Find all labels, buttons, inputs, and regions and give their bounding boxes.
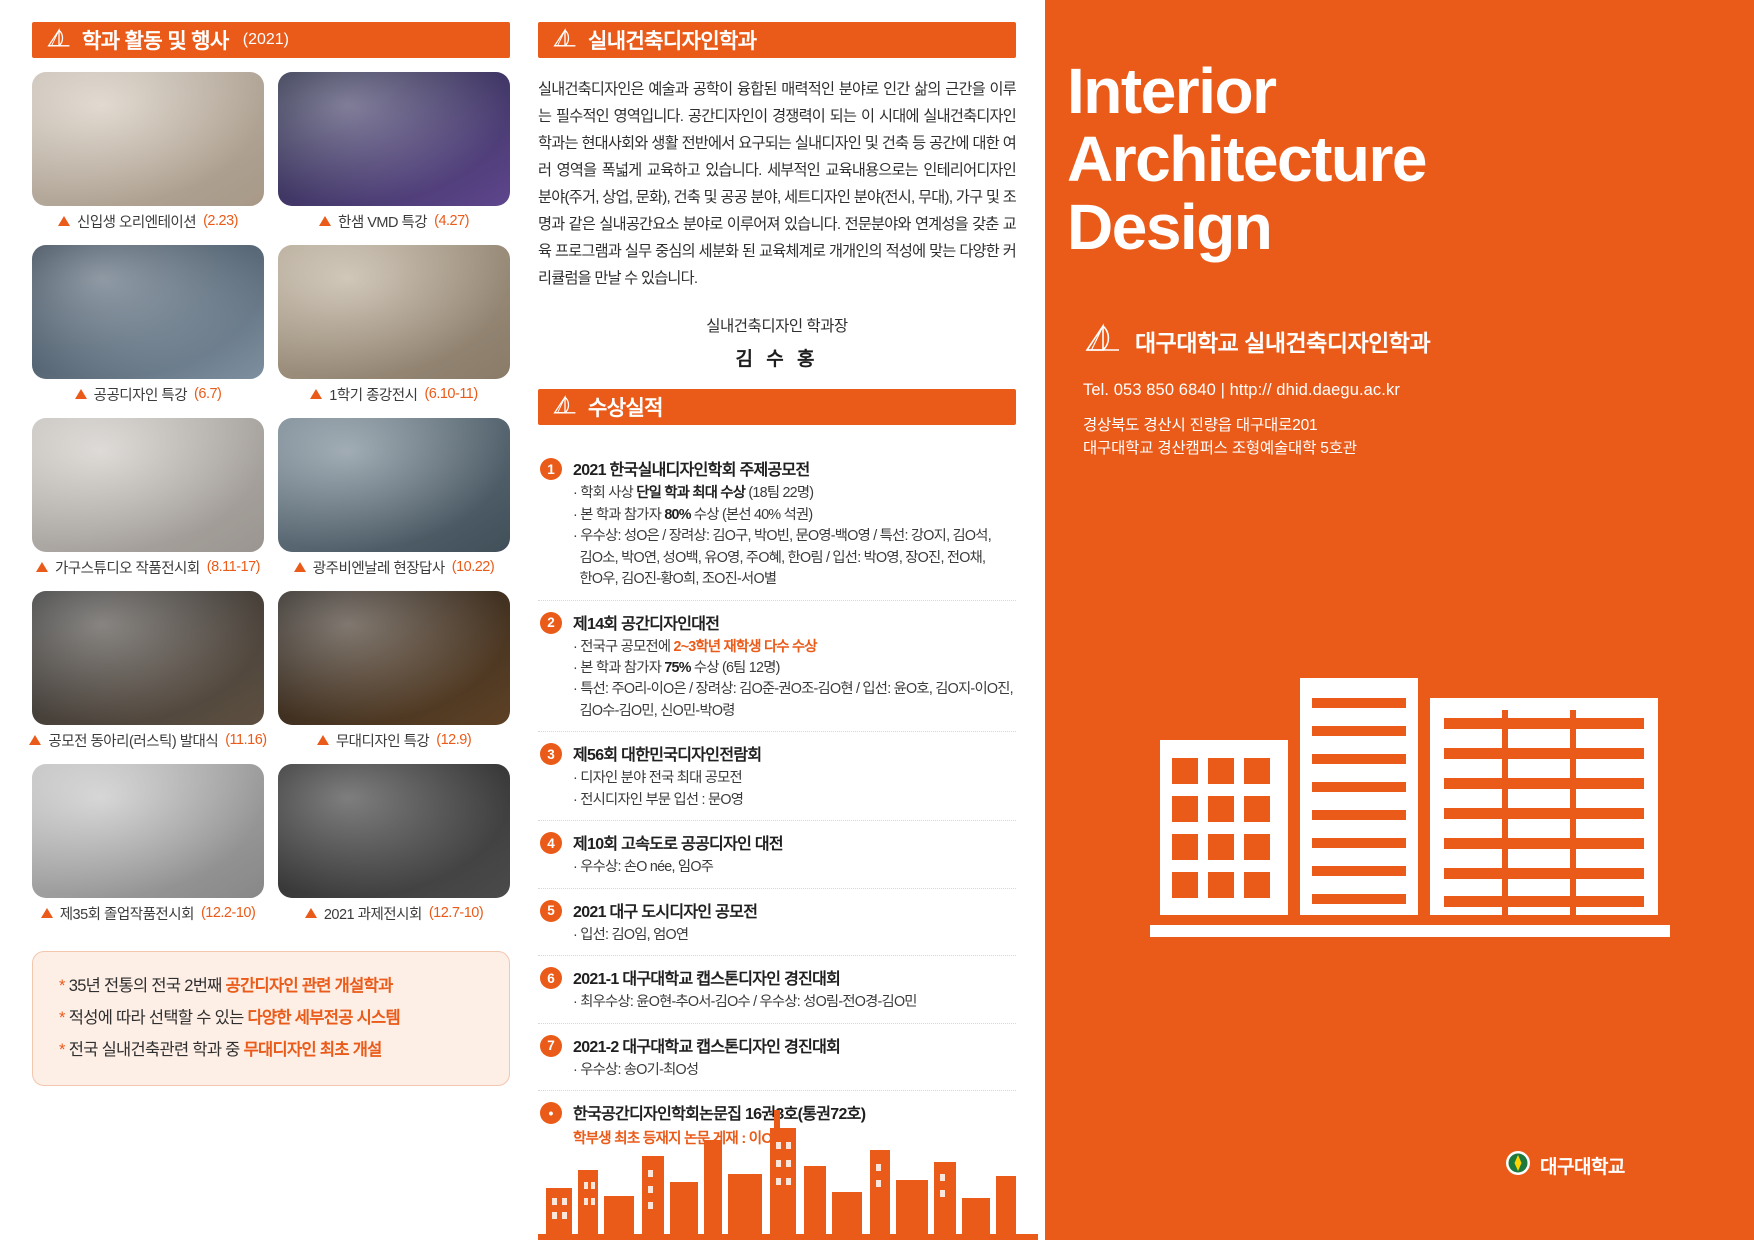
triangle-bullet-icon xyxy=(305,908,317,918)
dgu-logo-icon xyxy=(552,27,578,54)
freshman-orientation-photo xyxy=(32,72,264,206)
activities-section-header: 학과 활동 및 행사 (2021) xyxy=(32,22,510,58)
35th-graduation-exhibition-photo xyxy=(32,764,264,898)
note-highlight: 공간디자인 관련 개설학과 xyxy=(226,977,393,995)
award-body: 2021 대구 도시디자인 공모전· 입선: 김O임, 엄O연 xyxy=(573,898,1016,946)
activity-photo-item: 공공디자인 특강(6.7) xyxy=(32,245,264,409)
building-illustration xyxy=(1150,640,1670,975)
activity-photo-caption: 한샘 VMD 특강(4.27) xyxy=(278,206,510,236)
activity-photo-date: (12.7-10) xyxy=(429,905,483,921)
activity-photo-caption-text: 한샘 VMD 특강 xyxy=(338,211,427,232)
award-title: 2021 대구 도시디자인 공모전 xyxy=(573,898,1016,922)
brand-title-line-2: Architecture xyxy=(1067,126,1687,194)
award-detail-line: · 본 학과 참가자 75% 수상 (6팀 12명) xyxy=(573,658,1016,679)
award-item: 52021 대구 도시디자인 공모전· 입선: 김O임, 엄O연 xyxy=(538,889,1016,956)
activities-section-title: 학과 활동 및 행사 xyxy=(82,25,229,55)
brand-address-line-2: 대구대학교 경산캠퍼스 조형예술대학 5호관 xyxy=(1083,437,1683,460)
asterisk-icon: * xyxy=(59,977,65,995)
activity-photo-caption-text: 공공디자인 특강 xyxy=(94,384,187,405)
brochure-page: Interior Architecture Design 대구대학교 실내건축디… xyxy=(0,0,1754,1240)
dean-role: 실내건축디자인 학과장 xyxy=(538,314,1016,336)
triangle-bullet-icon xyxy=(294,562,306,572)
award-title: 제56회 대한민국디자인전람회 xyxy=(573,741,1016,765)
triangle-bullet-icon xyxy=(75,389,87,399)
activity-photo-date: (2.23) xyxy=(203,213,238,229)
awards-section-header: 수상실적 xyxy=(538,389,1016,425)
dgu-logo-icon xyxy=(46,27,72,54)
brand-tel[interactable]: Tel. 053 850 6840 | http:// dhid.daegu.a… xyxy=(1083,381,1683,400)
activity-photo-date: (12.2-10) xyxy=(201,905,255,921)
activity-photo-item: 무대디자인 특강(12.9) xyxy=(278,591,510,755)
award-body: 2021-1 대구대학교 캡스톤디자인 경진대회· 최우수상: 윤O현-추O서-… xyxy=(573,965,1016,1013)
brand-title-line-1: Interior xyxy=(1067,58,1687,126)
activity-photo-date: (8.11-17) xyxy=(207,559,260,575)
2021-assignment-exhibition-photo xyxy=(278,764,510,898)
department-section-title: 실내건축디자인학과 xyxy=(588,25,756,55)
triangle-bullet-icon xyxy=(319,216,331,226)
brand-dept-name: 대구대학교 실내건축디자인학과 xyxy=(1135,324,1430,358)
award-detail-line: 김O수-김O민, 신O민-박O령 xyxy=(573,701,1016,722)
activity-photo-caption: 광주비엔날레 현장답사(10.22) xyxy=(278,552,510,582)
activity-photo-caption: 공공디자인 특강(6.7) xyxy=(32,379,264,409)
semester-end-exhibition-photo xyxy=(278,245,510,379)
note-text: 35년 전통의 전국 2번째 xyxy=(69,977,226,995)
award-detail-line: · 학회 사상 단일 학과 최대 수상 (18팀 22명) xyxy=(573,483,1016,504)
award-number-badge: 3 xyxy=(540,743,562,765)
awards-section-title: 수상실적 xyxy=(588,392,663,422)
highlight-notes-box: *35년 전통의 전국 2번째 공간디자인 관련 개설학과*적성에 따라 선택할… xyxy=(32,951,510,1086)
activity-photo-caption: 제35회 졸업작품전시회(12.2-10) xyxy=(32,898,264,928)
highlight-note-line: *적성에 따라 선택할 수 있는 다양한 세부전공 시스템 xyxy=(59,1002,487,1034)
activity-photo-caption: 공모전 동아리(러스틱) 발대식(11.16) xyxy=(32,725,264,755)
department-intro-text: 실내건축디자인은 예술과 공학이 융합된 매력적인 분야로 인간 삶의 근간을 … xyxy=(538,76,1016,292)
activity-photo-item: 제35회 졸업작품전시회(12.2-10) xyxy=(32,764,264,928)
activity-photo-item: 2021 과제전시회(12.7-10) xyxy=(278,764,510,928)
award-number-badge: 1 xyxy=(540,458,562,480)
activity-photo-caption-text: 공모전 동아리(러스틱) 발대식 xyxy=(48,730,218,751)
activity-photo-caption-text: 신입생 오리엔테이션 xyxy=(77,211,196,232)
activity-photo-caption: 신입생 오리엔테이션(2.23) xyxy=(32,206,264,236)
award-detail-line: · 특선: 주O리-이O은 / 장려상: 김O준-권O조-김O현 / 입선: 윤… xyxy=(573,679,1016,700)
activity-photo-date: (4.27) xyxy=(434,213,469,229)
award-title: 제10회 고속도로 공공디자인 대전 xyxy=(573,830,1016,854)
hanssem-vmd-lecture-photo xyxy=(278,72,510,206)
activity-photo-date: (11.16) xyxy=(225,732,266,748)
activity-photo-caption-text: 제35회 졸업작품전시회 xyxy=(60,903,194,924)
award-number-badge: 5 xyxy=(540,900,562,922)
activity-photo-item: 광주비엔날레 현장답사(10.22) xyxy=(278,418,510,582)
award-detail-line: · 전시디자인 부문 입선 : 문O영 xyxy=(573,790,1016,811)
activity-photo-item: 한샘 VMD 특강(4.27) xyxy=(278,72,510,236)
award-detail-line: · 전국구 공모전에 2~3학년 재학생 다수 수상 xyxy=(573,637,1016,658)
award-title: 2021-2 대구대학교 캡스톤디자인 경진대회 xyxy=(573,1033,1016,1057)
award-detail-line: · 디자인 분야 전국 최대 공모전 xyxy=(573,768,1016,789)
award-detail-line: · 우수상: 성O은 / 장려상: 김O구, 박O빈, 문O영-백O영 / 특선… xyxy=(573,526,1016,547)
activity-photo-caption-text: 광주비엔날레 현장답사 xyxy=(313,557,445,578)
awards-list: 12021 한국실내디자인학회 주제공모전· 학회 사상 단일 학과 최대 수상… xyxy=(538,447,1016,1157)
award-detail-line: · 본 학과 참가자 80% 수상 (본선 40% 석권) xyxy=(573,505,1016,526)
award-number-badge: 7 xyxy=(540,1035,562,1057)
activity-photo-grid: 신입생 오리엔테이션(2.23)한샘 VMD 특강(4.27)공공디자인 특강(… xyxy=(32,72,510,937)
award-item: 62021-1 대구대학교 캡스톤디자인 경진대회· 최우수상: 윤O현-추O서… xyxy=(538,956,1016,1023)
city-skyline-illustration xyxy=(538,1070,1038,1240)
activity-photo-caption: 무대디자인 특강(12.9) xyxy=(278,725,510,755)
award-number-badge: 6 xyxy=(540,967,562,989)
dgu-logo-icon xyxy=(1083,322,1123,359)
university-footer-text: 대구대학교 xyxy=(1540,1152,1625,1179)
asterisk-icon: * xyxy=(59,1041,65,1059)
award-detail-line: · 최우수상: 윤O현-추O서-김O수 / 우수상: 성O림-전O경-김O민 xyxy=(573,992,1016,1013)
award-title: 제14회 공간디자인대전 xyxy=(573,610,1016,634)
triangle-bullet-icon xyxy=(41,908,53,918)
award-detail-line: 한O우, 김O진-황O희, 조O진-서O별 xyxy=(573,569,1016,590)
highlight-note-line: *전국 실내건축관련 학과 중 무대디자인 최초 개설 xyxy=(59,1034,487,1066)
award-title: 2021-1 대구대학교 캡스톤디자인 경진대회 xyxy=(573,965,1016,989)
activity-photo-caption-text: 2021 과제전시회 xyxy=(324,903,422,924)
daegu-university-emblem-icon xyxy=(1505,1150,1531,1181)
award-detail-line: · 입선: 김O임, 엄O연 xyxy=(573,925,1016,946)
triangle-bullet-icon xyxy=(36,562,48,572)
stage-design-lecture-photo xyxy=(278,591,510,725)
triangle-bullet-icon xyxy=(317,735,329,745)
university-footer: 대구대학교 xyxy=(1505,1150,1625,1181)
brand-title-line-3: Design xyxy=(1067,194,1687,262)
activity-photo-item: 가구스튜디오 작품전시회(8.11-17) xyxy=(32,418,264,582)
award-item: 3제56회 대한민국디자인전람회· 디자인 분야 전국 최대 공모전· 전시디자… xyxy=(538,732,1016,821)
note-highlight: 다양한 세부전공 시스템 xyxy=(247,1009,400,1027)
activity-photo-date: (12.9) xyxy=(436,732,471,748)
note-highlight: 무대디자인 최초 개설 xyxy=(244,1041,382,1059)
award-body: 제14회 공간디자인대전· 전국구 공모전에 2~3학년 재학생 다수 수상· … xyxy=(573,610,1016,723)
award-number-badge: 2 xyxy=(540,612,562,634)
activity-photo-caption: 2021 과제전시회(12.7-10) xyxy=(278,898,510,928)
brand-title: Interior Architecture Design xyxy=(1067,58,1687,261)
triangle-bullet-icon xyxy=(29,735,41,745)
asterisk-icon: * xyxy=(59,1009,65,1027)
award-body: 제56회 대한민국디자인전람회· 디자인 분야 전국 최대 공모전· 전시디자인… xyxy=(573,741,1016,811)
award-detail-line: 김O소, 박O연, 성O백, 유O영, 주O혜, 한O림 / 입선: 박O영, … xyxy=(573,548,1016,569)
note-text: 적성에 따라 선택할 수 있는 xyxy=(69,1009,248,1027)
activity-photo-caption-text: 1학기 종강전시 xyxy=(329,384,417,405)
brand-address-line-1: 경상북도 경산시 진량읍 대구대로201 xyxy=(1083,414,1683,437)
competition-club-launch-photo xyxy=(32,591,264,725)
public-design-lecture-photo xyxy=(32,245,264,379)
highlight-note-line: *35년 전통의 전국 2번째 공간디자인 관련 개설학과 xyxy=(59,970,487,1002)
dgu-logo-icon xyxy=(552,394,578,421)
activity-photo-caption-text: 무대디자인 특강 xyxy=(336,730,429,751)
left-column: 학과 활동 및 행사 (2021) 신입생 오리엔테이션(2.23)한샘 VMD… xyxy=(32,22,510,1086)
triangle-bullet-icon xyxy=(310,389,322,399)
activity-photo-date: (6.10-11) xyxy=(424,386,477,402)
award-item: 12021 한국실내디자인학회 주제공모전· 학회 사상 단일 학과 최대 수상… xyxy=(538,447,1016,600)
activity-photo-caption: 1학기 종강전시(6.10-11) xyxy=(278,379,510,409)
activity-photo-caption: 가구스튜디오 작품전시회(8.11-17) xyxy=(32,552,264,582)
furniture-studio-exhibition-photo xyxy=(32,418,264,552)
award-number-badge: 4 xyxy=(540,832,562,854)
activity-photo-caption-text: 가구스튜디오 작품전시회 xyxy=(55,557,200,578)
activity-photo-date: (6.7) xyxy=(194,386,221,402)
dean-signature-block: 실내건축디자인 학과장 김 수 홍 xyxy=(538,314,1016,371)
note-text: 전국 실내건축관련 학과 중 xyxy=(69,1041,244,1059)
award-body: 2021 한국실내디자인학회 주제공모전· 학회 사상 단일 학과 최대 수상 … xyxy=(573,456,1016,590)
award-title: 2021 한국실내디자인학회 주제공모전 xyxy=(573,456,1016,480)
award-item: 4제10회 고속도로 공공디자인 대전· 우수상: 손O née, 임O주 xyxy=(538,821,1016,888)
award-body: 제10회 고속도로 공공디자인 대전· 우수상: 손O née, 임O주 xyxy=(573,830,1016,878)
department-section-header: 실내건축디자인학과 xyxy=(538,22,1016,58)
activity-photo-item: 공모전 동아리(러스틱) 발대식(11.16) xyxy=(32,591,264,755)
activities-section-year: (2021) xyxy=(243,31,289,49)
award-item: 2제14회 공간디자인대전· 전국구 공모전에 2~3학년 재학생 다수 수상·… xyxy=(538,601,1016,733)
dean-name: 김 수 홍 xyxy=(538,344,1016,371)
award-detail-line: · 우수상: 손O née, 임O주 xyxy=(573,857,1016,878)
activity-photo-date: (10.22) xyxy=(452,559,494,575)
activity-photo-item: 1학기 종강전시(6.10-11) xyxy=(278,245,510,409)
triangle-bullet-icon xyxy=(58,216,70,226)
gwangju-biennale-fieldtrip-photo xyxy=(278,418,510,552)
brand-contact-block: 대구대학교 실내건축디자인학과 Tel. 053 850 6840 | http… xyxy=(1083,322,1683,461)
brand-dept-row: 대구대학교 실내건축디자인학과 xyxy=(1083,322,1683,359)
activity-photo-item: 신입생 오리엔테이션(2.23) xyxy=(32,72,264,236)
middle-column: 실내건축디자인학과 실내건축디자인은 예술과 공학이 융합된 매력적인 분야로 … xyxy=(538,22,1016,1157)
